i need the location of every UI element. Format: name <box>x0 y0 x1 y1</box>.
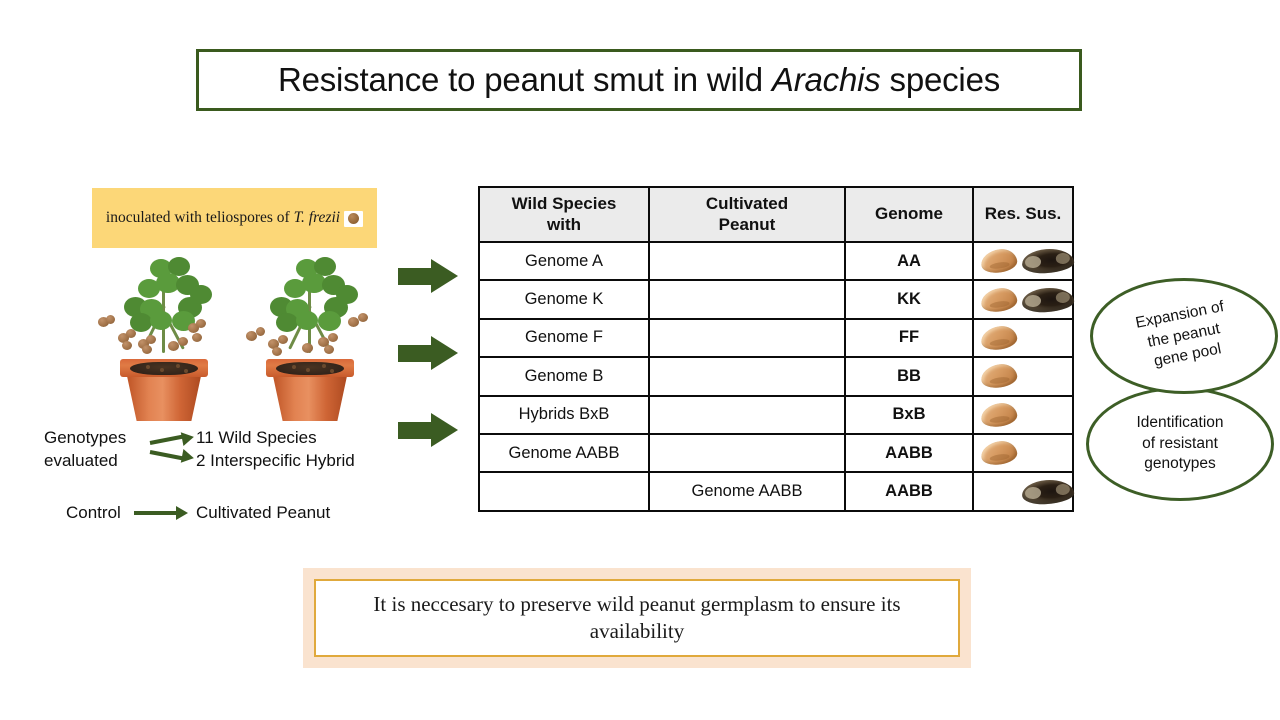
conclusion-text: It is neccesary to preserve wild peanut … <box>332 591 942 645</box>
potted-peanut-plants-illustration <box>92 255 382 427</box>
cell-res-sus <box>973 319 1073 357</box>
fork-arrow-lower <box>150 449 196 463</box>
spore-cluster <box>178 337 188 346</box>
title-italic-genus: Arachis <box>772 61 881 98</box>
cell-wild-species: Genome AABB <box>479 434 649 472</box>
arrow-head <box>181 430 195 446</box>
spore-cluster <box>278 335 288 344</box>
control-output: Cultivated Peanut <box>196 503 330 523</box>
susceptible-slot <box>1023 281 1072 317</box>
inoculation-note-box: inoculated with teliospores of T. frezii <box>92 188 377 248</box>
arrow-head <box>431 336 458 370</box>
susceptible-slot-empty <box>1023 320 1072 356</box>
plant-leaf <box>296 311 318 330</box>
pot-soil <box>130 362 198 375</box>
table-row: Genome A AA <box>479 242 1073 280</box>
cell-cultivated-peanut <box>649 357 845 395</box>
arrow-head <box>431 259 458 293</box>
arrow-head <box>181 449 195 465</box>
cell-res-sus <box>973 280 1073 318</box>
pod-pair <box>974 358 1072 394</box>
pot-soil <box>276 362 344 375</box>
callout-line: genotypes <box>1136 454 1223 475</box>
inoculation-note-prefix: inoculated with teliospores of <box>106 209 294 226</box>
header-line: Wild Species <box>484 194 644 214</box>
control-label: Control <box>66 503 121 523</box>
cell-genome: BB <box>845 357 973 395</box>
cell-wild-species: Genome B <box>479 357 649 395</box>
genotypes-output-wild-species: 11 Wild Species <box>196 427 406 450</box>
susceptible-slot <box>1023 243 1072 279</box>
cell-genome: AA <box>845 242 973 280</box>
cell-wild-species <box>479 472 649 510</box>
cell-genome: KK <box>845 280 973 318</box>
cell-cultivated-peanut <box>649 434 845 472</box>
inoculation-note-text: inoculated with teliospores of T. frezii <box>106 208 363 228</box>
plant-leaf <box>150 311 172 330</box>
title-suffix: species <box>881 61 1000 98</box>
cell-genome: AABB <box>845 472 973 510</box>
spore-cluster <box>256 327 265 336</box>
table-row: Genome K KK <box>479 280 1073 318</box>
smutted-pod-icon <box>1021 286 1075 314</box>
spore-cluster <box>146 335 156 344</box>
potted-plant-2 <box>240 255 380 427</box>
cell-cultivated-peanut: Genome AABB <box>649 472 845 510</box>
spore-cluster <box>328 333 338 342</box>
cell-genome: BxB <box>845 396 973 434</box>
cell-wild-species: Hybrids BxB <box>479 396 649 434</box>
block-arrow-to-hybrids <box>398 413 458 447</box>
cell-cultivated-peanut <box>649 242 845 280</box>
spore-cluster <box>358 313 368 322</box>
pot-body <box>127 376 201 421</box>
table-row: Genome B BB <box>479 357 1073 395</box>
table-row: Genome AABB AABB <box>479 472 1073 510</box>
cell-wild-species: Genome F <box>479 319 649 357</box>
conclusion-line-1: It is neccesary to preserve wild peanut … <box>373 592 875 616</box>
cell-wild-species: Genome K <box>479 280 649 318</box>
cell-cultivated-peanut <box>649 319 845 357</box>
spore-cluster <box>272 347 282 356</box>
pot-body <box>273 376 347 421</box>
control-arrow <box>134 506 190 520</box>
callout-line: of resistant <box>1136 434 1223 455</box>
callout-expansion-gene-pool: Expansion of the peanut gene pool <box>1090 278 1278 394</box>
susceptible-slot-empty <box>1023 397 1072 433</box>
title-prefix: Resistance to peanut smut in wild <box>278 61 772 98</box>
column-header-genome: Genome <box>845 187 973 242</box>
arrow-head <box>176 506 188 520</box>
resistant-slot <box>974 397 1023 433</box>
pod-pair <box>974 397 1072 433</box>
spore-cluster <box>142 345 152 354</box>
susceptible-slot-empty <box>1023 435 1072 471</box>
header-line: Cultivated <box>654 194 840 214</box>
plant-leaf <box>318 311 341 331</box>
spore-icon <box>344 211 363 227</box>
cell-genome: FF <box>845 319 973 357</box>
cell-cultivated-peanut <box>649 280 845 318</box>
spore-cluster <box>324 345 334 354</box>
header-line: Peanut <box>654 215 840 235</box>
block-arrow-to-genome-f <box>398 336 458 370</box>
cell-res-sus <box>973 357 1073 395</box>
pod-pair <box>974 435 1072 471</box>
table-header-row: Wild Species with Cultivated Peanut Geno… <box>479 187 1073 242</box>
pot-rim <box>266 359 354 377</box>
cell-res-sus <box>973 396 1073 434</box>
fork-arrow-upper <box>150 432 196 446</box>
flower-pot <box>120 359 208 421</box>
callout-identification-resistant-genotypes: Identification of resistant genotypes <box>1086 387 1274 501</box>
cell-res-sus <box>973 434 1073 472</box>
cell-cultivated-peanut <box>649 396 845 434</box>
cell-res-sus <box>973 242 1073 280</box>
block-arrow-to-genome-a <box>398 259 458 293</box>
page-title: Resistance to peanut smut in wild Arachi… <box>278 61 1000 99</box>
genotypes-outputs: 11 Wild Species 2 Interspecific Hybrid <box>196 427 406 473</box>
resistant-slot-empty <box>974 473 1023 509</box>
potted-plant-1 <box>94 255 234 427</box>
cell-genome: AABB <box>845 434 973 472</box>
table-row: Genome AABB AABB <box>479 434 1073 472</box>
slide-title-box: Resistance to peanut smut in wild Arachi… <box>196 49 1082 111</box>
plant-leaf <box>284 279 306 298</box>
pot-rim <box>120 359 208 377</box>
conclusion-inner-frame: It is neccesary to preserve wild peanut … <box>314 579 960 657</box>
pod-pair <box>974 281 1072 317</box>
plant-leaf <box>190 285 212 304</box>
header-line: Res. Sus. <box>978 204 1068 224</box>
pod-pair <box>974 243 1072 279</box>
susceptible-slot-empty <box>1023 358 1072 394</box>
column-header-res-sus: Res. Sus. <box>973 187 1073 242</box>
conclusion-box: It is neccesary to preserve wild peanut … <box>303 568 971 668</box>
inoculation-note-species: T. frezii <box>294 209 341 226</box>
spore-cluster <box>106 315 115 324</box>
arrow-line <box>150 434 186 445</box>
table-row: Hybrids BxB BxB <box>479 396 1073 434</box>
spore-cluster <box>196 319 206 328</box>
table-row: Genome F FF <box>479 319 1073 357</box>
arrow-head <box>431 413 458 447</box>
spore-cluster <box>126 329 136 338</box>
arrow-line <box>134 511 178 515</box>
smutted-pod-icon <box>1021 247 1075 275</box>
spore-cluster <box>192 333 202 342</box>
susceptible-slot <box>1023 473 1072 509</box>
cell-res-sus <box>973 472 1073 510</box>
spore-cluster <box>122 341 132 350</box>
resistant-slot <box>974 281 1023 317</box>
resistant-slot <box>974 435 1023 471</box>
plant-leaf <box>276 313 298 332</box>
smutted-pod-icon <box>1021 478 1075 506</box>
pod-pair <box>974 320 1072 356</box>
flower-pot <box>266 359 354 421</box>
resistant-slot <box>974 320 1023 356</box>
callout-identification-text: Identification of resistant genotypes <box>1136 413 1223 475</box>
plant-leaf <box>138 279 160 298</box>
column-header-cultivated-peanut: Cultivated Peanut <box>649 187 845 242</box>
resistance-results-table: Wild Species with Cultivated Peanut Geno… <box>478 186 1074 512</box>
header-line: Genome <box>850 204 968 224</box>
resistant-slot <box>974 243 1023 279</box>
callout-line: Identification <box>1136 413 1223 434</box>
genotypes-output-hybrids: 2 Interspecific Hybrid <box>196 450 406 473</box>
pod-pair <box>974 473 1072 509</box>
cell-wild-species: Genome A <box>479 242 649 280</box>
header-line: with <box>484 215 644 235</box>
resistant-slot <box>974 358 1023 394</box>
spore-cluster <box>302 343 313 353</box>
callout-expansion-text: Expansion of the peanut gene pool <box>1134 297 1234 375</box>
column-header-wild-species: Wild Species with <box>479 187 649 242</box>
plant-leaf <box>336 285 358 304</box>
